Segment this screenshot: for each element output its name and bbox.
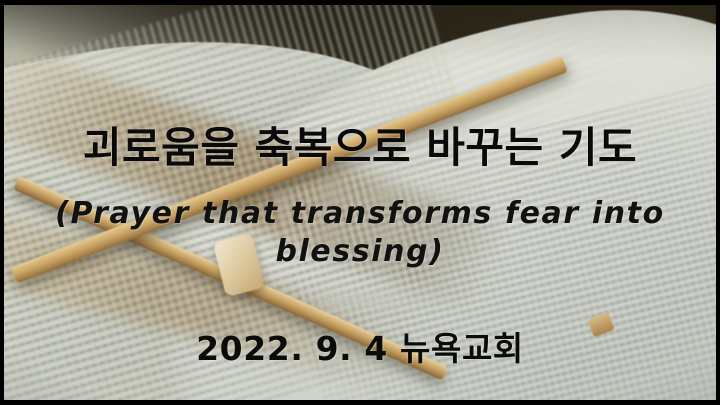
sermon-title-korean: 괴로움을 축복으로 바꾸는 기도	[4, 125, 716, 170]
title-slide: 괴로움을 축복으로 바꾸는 기도 (Prayer that transforms…	[0, 0, 720, 405]
sermon-subtitle-english: (Prayer that transforms fear into blessi…	[30, 195, 690, 272]
subtitle-line-2: blessing)	[30, 233, 690, 271]
letterbox-right	[716, 0, 720, 405]
date-and-church-name: 2022. 9. 4 뉴욕교회	[4, 322, 716, 370]
letterbox-bottom	[0, 400, 720, 405]
text-overlay: 괴로움을 축복으로 바꾸는 기도 (Prayer that transforms…	[4, 5, 716, 400]
subtitle-line-1: (Prayer that transforms fear into	[30, 195, 690, 233]
